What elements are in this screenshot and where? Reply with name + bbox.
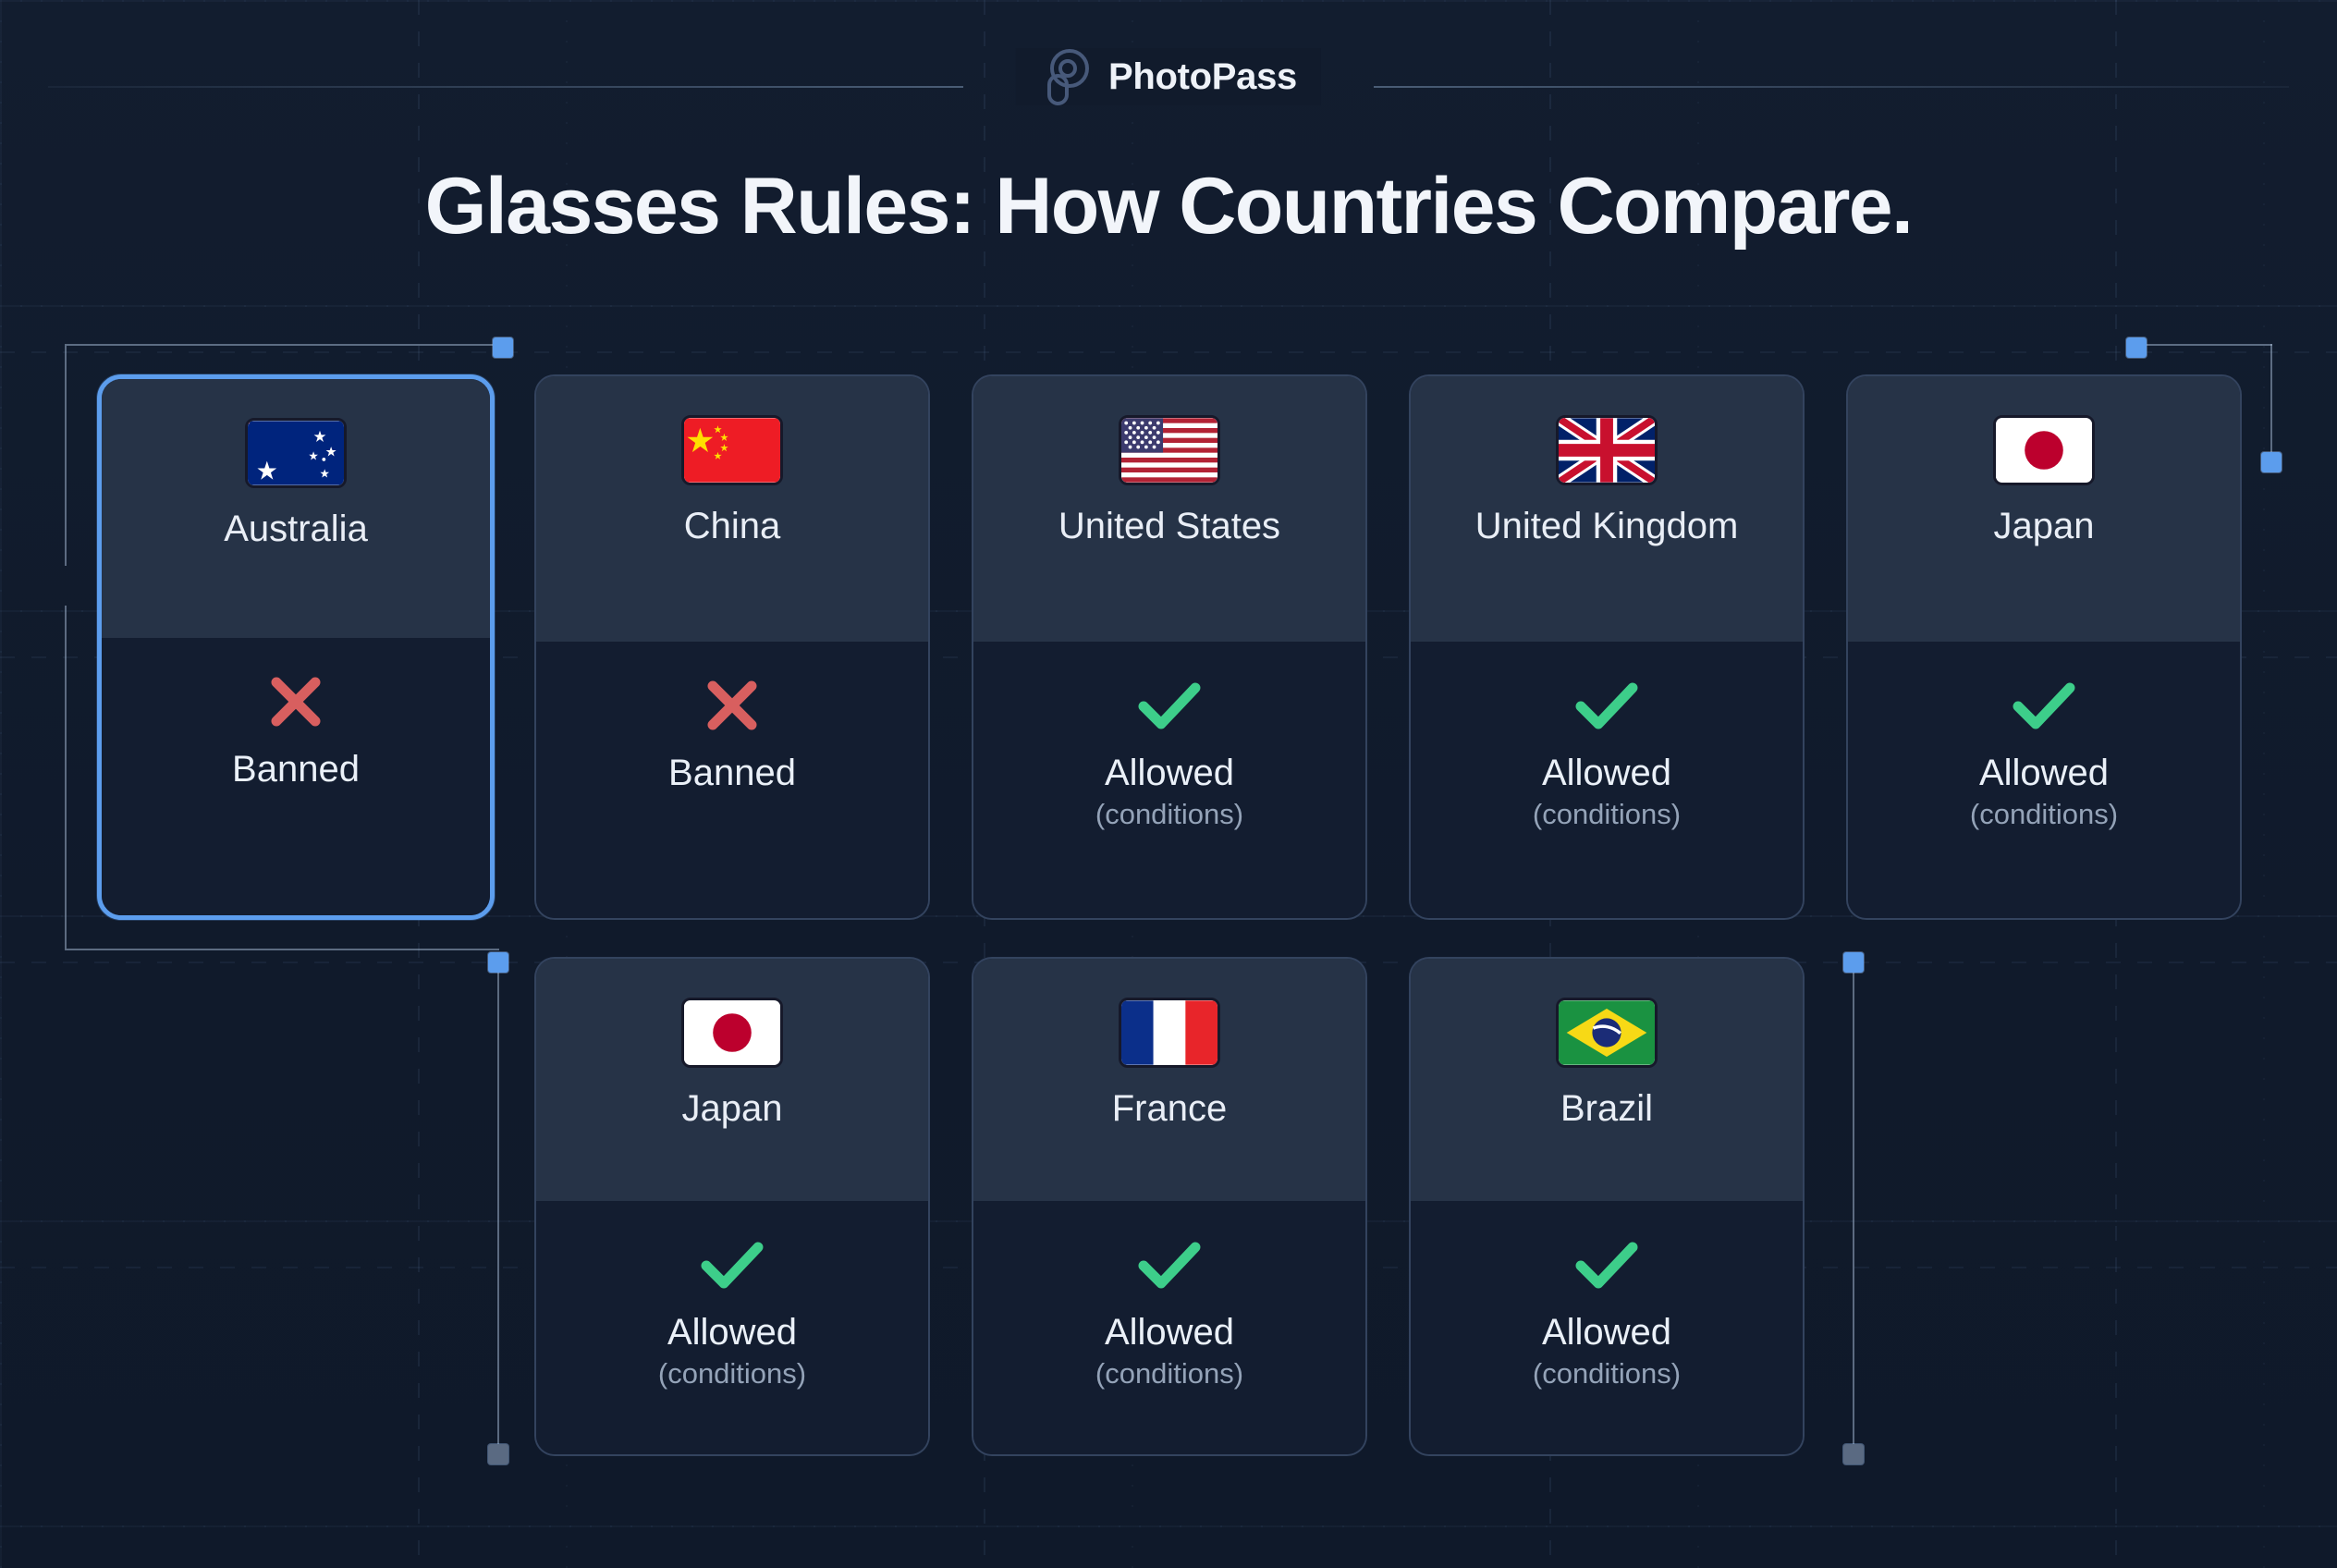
canvas-root: PhotoPass Glasses Rules: How Countries C… <box>0 0 2337 1568</box>
status-label: Allowed <box>667 1312 797 1354</box>
card-status-japan-top: Allowed (conditions) <box>1848 642 2240 918</box>
card-header-france: France <box>973 959 1365 1201</box>
flag-australia-icon <box>245 418 347 488</box>
guide-line-right-vertical <box>2270 344 2272 462</box>
resize-handle-top-right[interactable] <box>2126 337 2147 358</box>
check-icon <box>1128 1231 1211 1299</box>
guide-line-left-column <box>497 967 499 1455</box>
country-card-japan-top[interactable]: Japan Allowed (conditions) <box>1846 374 2242 920</box>
flag-united-kingdom-icon <box>1556 415 1658 485</box>
card-status-brazil: Allowed (conditions) <box>1411 1201 1803 1454</box>
card-header-brazil: Brazil <box>1411 959 1803 1201</box>
check-icon <box>2002 671 2086 740</box>
country-card-australia[interactable]: Australia Banned <box>97 374 495 920</box>
cross-icon <box>698 671 766 740</box>
resize-handle-bottom-right[interactable] <box>1843 1444 1864 1464</box>
card-header-australia: Australia <box>102 379 490 638</box>
card-status-france: Allowed (conditions) <box>973 1201 1365 1454</box>
country-name: United Kingdom <box>1475 506 1739 547</box>
country-name: Japan <box>682 1088 783 1130</box>
card-header-japan-bottom: Japan <box>536 959 928 1201</box>
flag-japan-icon <box>1993 415 2095 485</box>
card-status-united-states: Allowed (conditions) <box>973 642 1365 918</box>
country-name: France <box>1112 1088 1228 1130</box>
flag-united-states-icon <box>1119 415 1220 485</box>
card-status-japan-bottom: Allowed (conditions) <box>536 1201 928 1454</box>
check-icon <box>691 1231 774 1299</box>
status-label: Banned <box>668 753 796 794</box>
check-icon <box>1128 671 1211 740</box>
resize-handle-top-left[interactable] <box>493 337 513 358</box>
card-status-united-kingdom: Allowed (conditions) <box>1411 642 1803 918</box>
status-note: (conditions) <box>1970 798 2118 831</box>
brand-name: PhotoPass <box>1108 56 1297 98</box>
flag-china-icon <box>681 415 783 485</box>
country-name: Japan <box>1994 506 2095 547</box>
check-icon <box>1565 1231 1648 1299</box>
status-note: (conditions) <box>658 1357 806 1390</box>
card-header-united-states: United States <box>973 376 1365 642</box>
guide-line-right-column <box>1853 967 1854 1455</box>
card-status-china: Banned <box>536 642 928 918</box>
status-label: Allowed <box>1979 753 2109 794</box>
country-card-japan-bottom[interactable]: Japan Allowed (conditions) <box>534 957 930 1456</box>
resize-handle-mid-right[interactable] <box>1843 952 1864 973</box>
country-name: United States <box>1058 506 1280 547</box>
status-label: Allowed <box>1542 753 1671 794</box>
country-name: China <box>684 506 781 547</box>
status-label: Allowed <box>1105 753 1234 794</box>
brand-logo-group[interactable]: PhotoPass <box>1016 48 1321 105</box>
card-header-japan-top: Japan <box>1848 376 2240 642</box>
resize-handle-mid-left[interactable] <box>488 952 508 973</box>
resize-handle-right-edge[interactable] <box>2261 452 2282 472</box>
flag-france-icon <box>1119 998 1220 1068</box>
country-name: Brazil <box>1560 1088 1653 1130</box>
flag-brazil-icon <box>1556 998 1658 1068</box>
country-card-france[interactable]: France Allowed (conditions) <box>972 957 1367 1456</box>
card-status-australia: Banned <box>102 638 490 915</box>
country-card-united-kingdom[interactable]: United Kingdom Allowed (conditions) <box>1409 374 1805 920</box>
status-label: Allowed <box>1542 1312 1671 1354</box>
card-header-china: China <box>536 376 928 642</box>
country-card-brazil[interactable]: Brazil Allowed (conditions) <box>1409 957 1805 1456</box>
flag-japan-icon <box>681 998 783 1068</box>
cross-icon <box>262 668 330 736</box>
status-note: (conditions) <box>1533 798 1681 831</box>
status-label: Banned <box>232 749 360 790</box>
photopass-p-logo-icon <box>1040 48 1094 105</box>
country-name: Australia <box>224 508 368 550</box>
check-icon <box>1565 671 1648 740</box>
resize-handle-bottom-left[interactable] <box>488 1444 508 1464</box>
status-note: (conditions) <box>1533 1357 1681 1390</box>
status-label: Allowed <box>1105 1312 1234 1354</box>
country-card-china[interactable]: China Banned <box>534 374 930 920</box>
status-note: (conditions) <box>1095 798 1243 831</box>
card-header-united-kingdom: United Kingdom <box>1411 376 1803 642</box>
status-note: (conditions) <box>1095 1357 1243 1390</box>
country-card-united-states[interactable]: United States Allowed (conditions) <box>972 374 1367 920</box>
guide-line-top-right-horizontal <box>2147 344 2272 346</box>
